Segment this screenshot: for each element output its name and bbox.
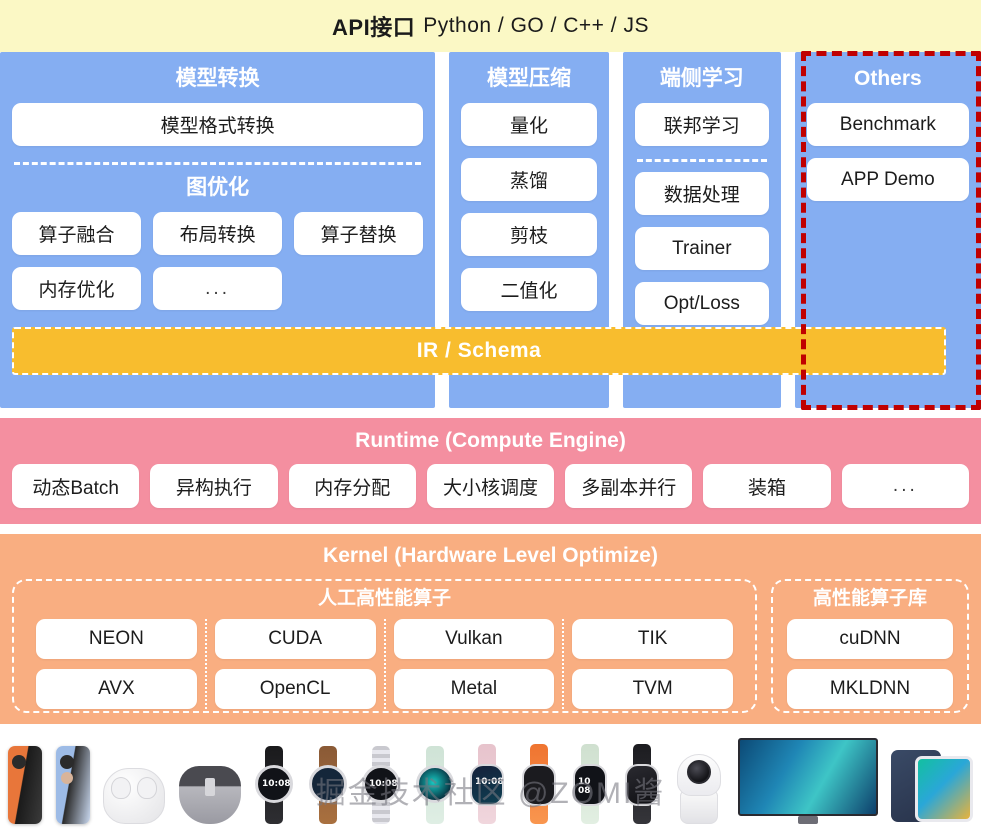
device-phone-orange: [8, 746, 42, 824]
runtime-layer: Runtime (Compute Engine) 动态Batch 异构执行 内存…: [0, 418, 981, 524]
chip-heterogeneous-execution[interactable]: 异构执行: [150, 464, 277, 508]
chip-more-runtime[interactable]: ...: [842, 464, 969, 508]
chip-federated-learning[interactable]: 联邦学习: [635, 103, 769, 146]
chip-avx[interactable]: AVX: [36, 669, 197, 709]
chip-layout-conversion[interactable]: 布局转换: [153, 212, 282, 255]
chip-app-demo[interactable]: APP Demo: [807, 158, 969, 201]
chip-operator-fusion[interactable]: 算子融合: [12, 212, 141, 255]
runtime-chip-row: 动态Batch 异构执行 内存分配 大小核调度 多副本并行 装箱 ...: [12, 464, 969, 508]
group-high-performance-operator-library: 高性能算子库 cuDNN MKLDNN: [771, 579, 969, 713]
graph-optimization-chip-grid: 算子融合 布局转换 算子替换 内存优化 ...: [12, 212, 423, 310]
chip-dynamic-batch[interactable]: 动态Batch: [12, 464, 139, 508]
device-smart-tv: [738, 738, 878, 824]
device-showcase-strip: 10:08 10:08 10:08: [0, 724, 981, 830]
device-tablet: [891, 748, 973, 824]
runtime-title: Runtime (Compute Engine): [12, 424, 969, 458]
chip-cudnn[interactable]: cuDNN: [787, 619, 953, 659]
device-earbuds-case-grey: [179, 766, 241, 824]
column-title-model-conversion: 模型转换: [12, 64, 423, 94]
device-smartwatch-round-silver: 10:08: [361, 746, 401, 824]
operator-subcolumn-cpu: NEON AVX: [28, 619, 205, 709]
ir-schema-bar[interactable]: IR / Schema: [12, 327, 946, 375]
chip-tik[interactable]: TIK: [572, 619, 733, 659]
device-earbuds-case-white: [103, 768, 165, 824]
chip-pruning[interactable]: 剪枝: [461, 213, 597, 256]
chip-opt-loss[interactable]: Opt/Loss: [635, 282, 769, 325]
group-title-manual-operators: 人工高性能算子: [28, 585, 741, 613]
chip-cuda[interactable]: CUDA: [215, 619, 376, 659]
operator-library-stack: cuDNN MKLDNN: [787, 619, 953, 709]
operator-subcolumn-graphics-api: Vulkan Metal: [384, 619, 563, 709]
chip-opencl[interactable]: OpenCL: [215, 669, 376, 709]
chip-memory-allocation[interactable]: 内存分配: [289, 464, 416, 508]
api-header-bar: API接口 Python / GO / C++ / JS: [0, 0, 981, 52]
group-manual-high-performance-operators: 人工高性能算子 NEON AVX CUDA OpenCL Vulkan Meta…: [12, 579, 757, 713]
chip-quantization[interactable]: 量化: [461, 103, 597, 146]
frontend-layer: 模型转换 模型格式转换 图优化 算子融合 布局转换 算子替换 内存优化 ... …: [0, 52, 981, 408]
divider-dashed: [14, 162, 421, 165]
chip-vulkan[interactable]: Vulkan: [394, 619, 555, 659]
chip-tvm[interactable]: TVM: [572, 669, 733, 709]
chip-data-processing[interactable]: 数据处理: [635, 172, 769, 215]
group-title-operator-library: 高性能算子库: [787, 585, 953, 613]
divider-dashed: [637, 159, 767, 162]
chip-big-little-core-scheduling[interactable]: 大小核调度: [427, 464, 554, 508]
subsection-title-graph-optimization: 图优化: [12, 173, 423, 203]
chip-mkldnn[interactable]: MKLDNN: [787, 669, 953, 709]
api-header-cn-label: API接口: [332, 10, 415, 42]
chip-multi-replica-parallel[interactable]: 多副本并行: [565, 464, 692, 508]
chip-binarization[interactable]: 二值化: [461, 268, 597, 311]
device-smartwatch-round-brown: [308, 746, 348, 824]
column-title-others: Others: [807, 64, 969, 94]
device-smartband-green: 1008: [571, 744, 609, 824]
chip-metal[interactable]: Metal: [394, 669, 555, 709]
device-smartband-pink: 10:08: [468, 744, 506, 824]
device-security-camera: [674, 752, 724, 824]
chip-distillation[interactable]: 蒸馏: [461, 158, 597, 201]
manual-operator-columns: NEON AVX CUDA OpenCL Vulkan Metal TIK TV…: [28, 619, 741, 709]
chip-operator-replacement[interactable]: 算子替换: [294, 212, 423, 255]
column-title-on-device-learning: 端侧学习: [635, 64, 769, 94]
chip-model-format-conversion[interactable]: 模型格式转换: [12, 103, 423, 146]
chip-more-graph-optimization[interactable]: ...: [153, 267, 282, 310]
device-smartwatch-round-mint: [415, 746, 455, 824]
kernel-groups: 人工高性能算子 NEON AVX CUDA OpenCL Vulkan Meta…: [12, 579, 969, 713]
device-smartwatch-round-black: 10:08: [254, 746, 294, 824]
chip-benchmark[interactable]: Benchmark: [807, 103, 969, 146]
kernel-title: Kernel (Hardware Level Optimize): [12, 539, 969, 573]
chip-trainer[interactable]: Trainer: [635, 227, 769, 270]
operator-subcolumn-gpu-compute: CUDA OpenCL: [205, 619, 384, 709]
api-header-languages-label: Python / GO / C++ / JS: [423, 14, 649, 38]
device-smartband-orange: [520, 744, 558, 824]
operator-subcolumn-compiler: TIK TVM: [562, 619, 741, 709]
kernel-layer: Kernel (Hardware Level Optimize) 人工高性能算子…: [0, 534, 981, 724]
device-phone-blue: [56, 746, 90, 824]
chip-neon[interactable]: NEON: [36, 619, 197, 659]
device-smartband-black: [623, 744, 661, 824]
column-title-model-compression: 模型压缩: [461, 64, 597, 94]
chip-memory-optimization[interactable]: 内存优化: [12, 267, 141, 310]
chip-packing[interactable]: 装箱: [703, 464, 830, 508]
